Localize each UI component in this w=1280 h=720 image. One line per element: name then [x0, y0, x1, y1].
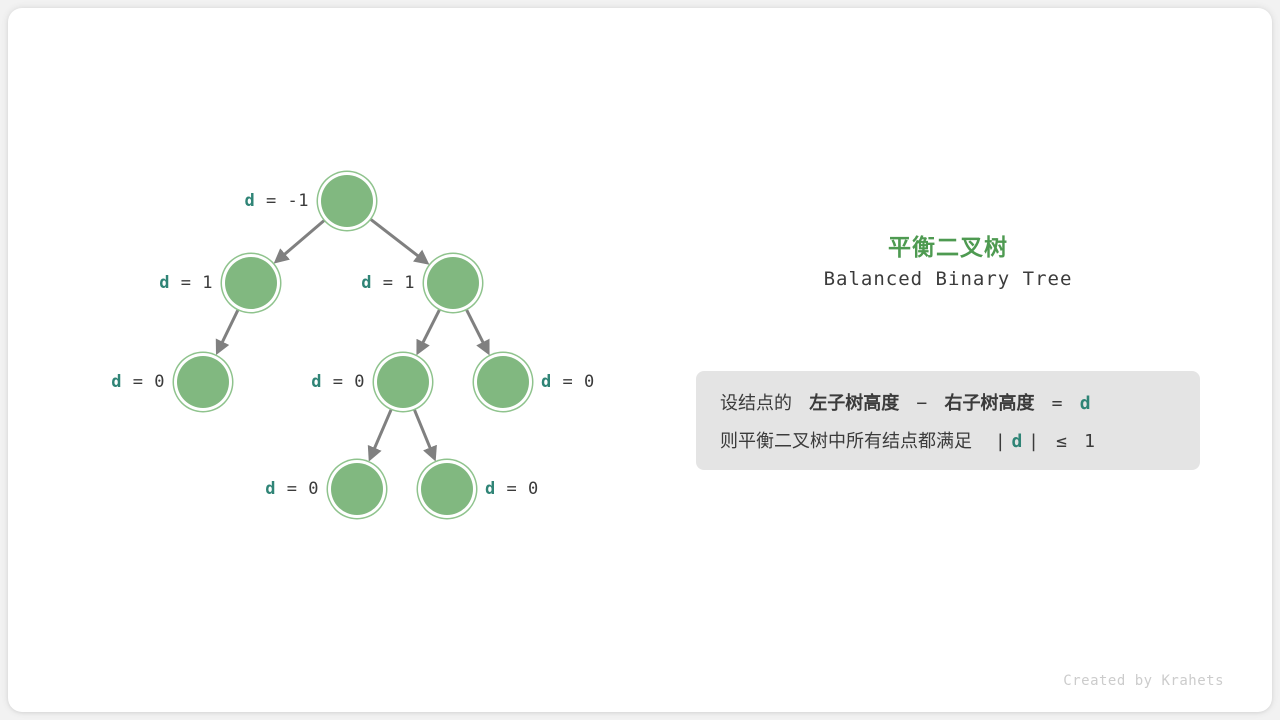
- definition-minus-sign: −: [916, 393, 927, 414]
- label-equals: =: [496, 479, 528, 499]
- label-equals: =: [255, 191, 287, 211]
- tree-edge: [218, 307, 239, 351]
- label-value: 0: [308, 479, 319, 499]
- tree-node-n-rll[interactable]: [331, 463, 383, 515]
- tree-edge: [277, 219, 327, 261]
- label-value: 1: [202, 273, 213, 293]
- abs-bar-close: |: [1028, 431, 1039, 452]
- label-variable: d: [159, 273, 170, 293]
- constraint-relation: ≤: [1056, 431, 1067, 452]
- label-equals: =: [322, 372, 354, 392]
- constraint-value: 1: [1084, 431, 1095, 452]
- tree-edge: [418, 307, 441, 352]
- constraint-prefix: 则平衡二叉树中所有结点都满足: [720, 431, 972, 452]
- label-variable: d: [361, 273, 372, 293]
- label-variable: d: [265, 479, 276, 499]
- definition-line-1: 设结点的 左子树高度 − 右子树高度 = d: [720, 385, 1176, 423]
- abs-bar-open: |: [995, 431, 1006, 452]
- label-value: 1: [404, 273, 415, 293]
- tree-edge: [368, 218, 426, 263]
- tree-edge: [413, 407, 434, 458]
- label-equals: =: [170, 273, 202, 293]
- label-equals: =: [372, 273, 404, 293]
- definition-prefix: 设结点的: [720, 393, 792, 414]
- label-variable: d: [245, 191, 256, 211]
- label-variable: d: [485, 479, 496, 499]
- definition-variable-d: d: [1080, 393, 1091, 414]
- page-subtitle: Balanced Binary Tree: [660, 268, 1236, 290]
- node-label-n-ll: d = 0: [111, 374, 165, 391]
- definition-term-right: 右子树高度: [944, 393, 1034, 414]
- constraint-variable-d: d: [1012, 431, 1023, 452]
- binary-tree-diagram: d = -1d = 1d = 1d = 0d = 0d = 0d = 0d = …: [0, 0, 660, 720]
- tree-node-n-rlr[interactable]: [421, 463, 473, 515]
- label-value: -1: [288, 191, 309, 211]
- screenshot-canvas: d = -1d = 1d = 1d = 0d = 0d = 0d = 0d = …: [0, 0, 1280, 720]
- node-label-n-rll: d = 0: [265, 481, 319, 498]
- tree-edge: [465, 307, 488, 352]
- tree-edges: [0, 0, 660, 720]
- label-equals: =: [552, 372, 584, 392]
- label-equals: =: [276, 479, 308, 499]
- definition-line-2: 则平衡二叉树中所有结点都满足 | d | ≤ 1: [720, 423, 1176, 461]
- credit-text: Created by Krahets: [1063, 673, 1224, 689]
- node-label-n-l: d = 1: [159, 275, 213, 292]
- node-label-root: d = -1: [245, 193, 309, 210]
- tree-node-n-l[interactable]: [225, 257, 277, 309]
- label-value: 0: [154, 372, 165, 392]
- label-variable: d: [111, 372, 122, 392]
- tree-node-n-rl[interactable]: [377, 356, 429, 408]
- definition-term-left: 左子树高度: [809, 393, 899, 414]
- info-panel: 平衡二叉树 Balanced Binary Tree 设结点的 左子树高度 − …: [660, 0, 1280, 720]
- node-label-n-rr: d = 0: [541, 374, 595, 391]
- label-variable: d: [311, 372, 322, 392]
- tree-node-n-ll[interactable]: [177, 356, 229, 408]
- tree-node-n-rr[interactable]: [477, 356, 529, 408]
- definition-box: 设结点的 左子树高度 − 右子树高度 = d 则平衡二叉树中所有结点都满足 | …: [696, 371, 1200, 470]
- tree-edge: [370, 407, 392, 458]
- node-label-n-rlr: d = 0: [485, 481, 539, 498]
- label-value: 0: [354, 372, 365, 392]
- label-equals: =: [122, 372, 154, 392]
- label-value: 0: [584, 372, 595, 392]
- tree-node-root[interactable]: [321, 175, 373, 227]
- page-title: 平衡二叉树: [660, 228, 1236, 262]
- label-variable: d: [541, 372, 552, 392]
- tree-node-n-r[interactable]: [427, 257, 479, 309]
- label-value: 0: [528, 479, 539, 499]
- node-label-n-r: d = 1: [361, 275, 415, 292]
- definition-equals-sign: =: [1052, 393, 1063, 414]
- node-label-n-rl: d = 0: [311, 374, 365, 391]
